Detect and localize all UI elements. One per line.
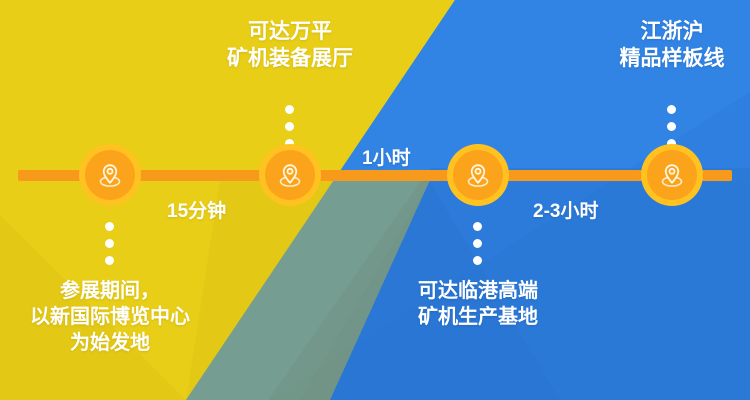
caption-line: 江浙沪 [562,18,750,45]
segment-label-1hour: 1小时 [362,143,411,170]
segment-label-15min: 15分钟 [167,196,226,223]
caption-stop-1: 参展期间， 以新国际博览中心 为始发地 [0,278,220,356]
caption-line: 精品样板线 [562,45,750,72]
segment-label-2to3hour: 2-3小时 [533,196,598,223]
caption-line: 可达万平 [180,18,400,45]
connector-dots-stop-4 [667,105,676,148]
connector-dot [285,105,294,114]
connector-dot [473,222,482,231]
map-pin-icon [647,150,697,200]
caption-stop-3: 可达临港高端 矿机生产基地 [368,278,588,330]
connector-dot [667,105,676,114]
map-pin-icon [85,150,135,200]
connector-dot [105,256,114,265]
caption-line: 参展期间， [0,278,220,304]
connector-dot [473,239,482,248]
connector-dot [667,122,676,131]
caption-line: 为始发地 [0,330,220,356]
connector-dots-stop-1 [105,222,114,265]
infographic-canvas: 15分钟 1小时 2-3小时 参展期间， 以新国际博览中心 为始发地 可达万平 … [0,0,750,400]
timeline-stop-3[interactable] [447,144,509,206]
caption-line: 可达临港高端 [368,278,588,304]
connector-dot [105,239,114,248]
connector-dots-stop-3 [473,222,482,265]
caption-stop-4: 江浙沪 精品样板线 [562,18,750,73]
timeline-stop-2[interactable] [259,144,321,206]
connector-dot [105,222,114,231]
timeline-stop-1[interactable] [79,144,141,206]
connector-dot [473,256,482,265]
map-pin-icon [265,150,315,200]
caption-line: 以新国际博览中心 [0,304,220,330]
map-pin-icon [453,150,503,200]
caption-line: 矿机装备展厅 [180,45,400,72]
caption-stop-2: 可达万平 矿机装备展厅 [180,18,400,73]
timeline-stop-4[interactable] [641,144,703,206]
connector-dot [285,122,294,131]
connector-dots-stop-2 [285,105,294,148]
caption-line: 矿机生产基地 [368,304,588,330]
